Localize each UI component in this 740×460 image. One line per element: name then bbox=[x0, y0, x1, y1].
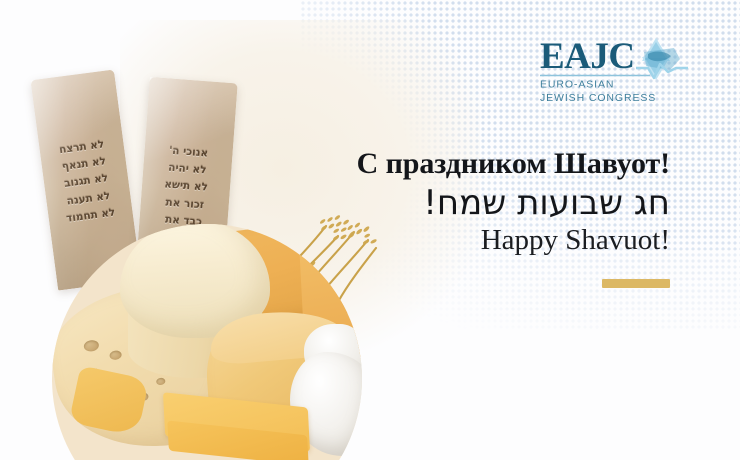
logo-tagline-line2: JEWISH CONGRESS bbox=[540, 92, 656, 104]
greeting-russian: С праздником Шавуот! bbox=[270, 148, 670, 180]
logo-wordmark: EAJC bbox=[540, 36, 635, 77]
tablet-line: לא תרצח bbox=[59, 139, 105, 156]
tablet-line: זכור את bbox=[165, 197, 204, 211]
tablet-line: אנוכי ה' bbox=[169, 145, 209, 159]
tablet-line: לא תחמוד bbox=[66, 207, 116, 225]
tablet-line: לא תגנוב bbox=[64, 173, 109, 190]
shavuot-greeting-banner: לא תרצח לא תנאף לא תגנוב לא תענה לא תחמו… bbox=[0, 0, 740, 460]
tablet-line: לא תישא bbox=[164, 180, 208, 194]
eajc-logo[interactable]: EAJC EURO-ASIAN JEWISH CONGRESS bbox=[524, 34, 696, 104]
tablet-line: לא תנאף bbox=[61, 156, 106, 173]
tablet-line: לא תענה bbox=[66, 191, 111, 208]
gold-divider-rule bbox=[602, 279, 670, 288]
greeting-english: Happy Shavuot! bbox=[270, 225, 670, 257]
star-of-david-icon bbox=[636, 38, 688, 80]
greeting-text-block: С праздником Шавуот! חג שבועות שמח! Happ… bbox=[270, 148, 670, 288]
greeting-hebrew: חג שבועות שמח! bbox=[270, 184, 670, 222]
tablet-line: לא יהיה bbox=[168, 163, 207, 177]
logo-tagline-line1: EURO-ASIAN bbox=[540, 79, 614, 91]
